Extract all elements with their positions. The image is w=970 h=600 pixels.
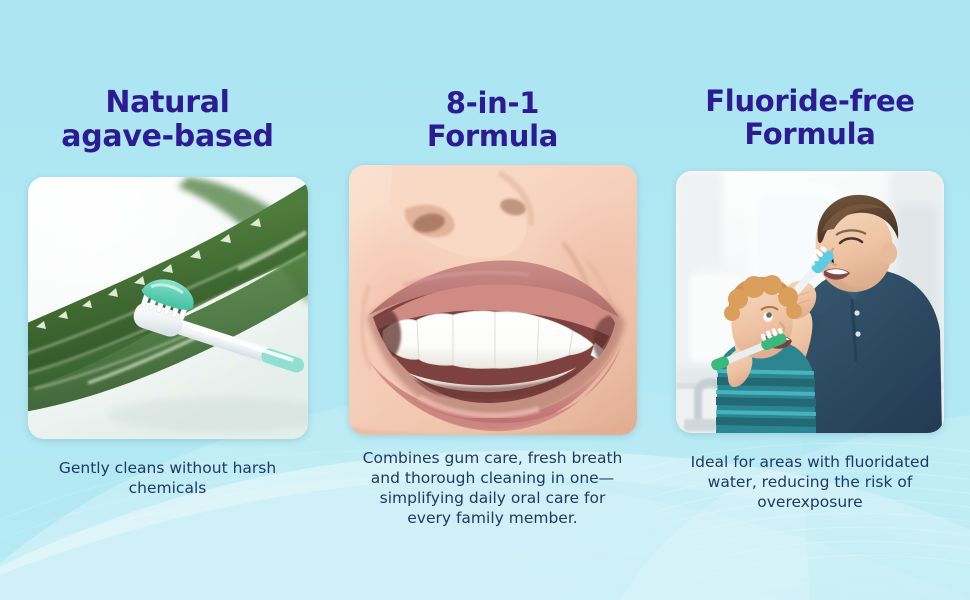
feature-heading: Natural agave-based — [18, 86, 318, 154]
feature-columns: Natural agave-based — [0, 0, 970, 600]
feature-column-fluoride-free-formula: Fluoride-free Formula — [650, 0, 970, 600]
feature-column-natural-agave-based: Natural agave-based — [0, 0, 335, 600]
father-and-son-brushing-teeth-photo — [676, 171, 944, 433]
feature-heading: Fluoride-free Formula — [660, 85, 960, 151]
close-up-smile-white-teeth-photo — [349, 165, 637, 435]
aloe-vera-leaf-with-toothbrush-photo — [28, 177, 308, 439]
feature-caption: Combines gum care, fresh breath and thor… — [346, 449, 640, 528]
feature-heading: 8-in-1 Formula — [348, 87, 638, 153]
feature-caption: Gently cleans without harsh chemicals — [32, 459, 304, 499]
product-feature-banner: Natural agave-based — [0, 0, 970, 600]
feature-caption: Ideal for areas with fluoridated water, … — [667, 453, 953, 512]
feature-column-8-in-1-formula: 8-in-1 Formula — [335, 0, 650, 600]
